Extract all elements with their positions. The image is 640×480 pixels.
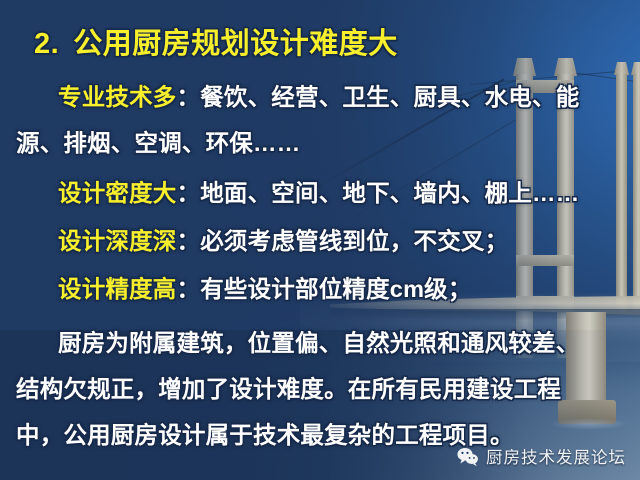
paragraph-line-5: 设计精度高：有些设计部位精度cm级； <box>58 266 472 312</box>
paragraph-body-2: 源、排烟、空调、环保…… <box>16 130 300 156</box>
paragraph-body-7: 结构欠规正，增加了设计难度。在所有民用建设工程 <box>16 376 561 402</box>
paragraph-label-design-density: 设计密度大 <box>58 180 177 206</box>
wechat-icon <box>456 445 479 468</box>
presentation-slide: 2.公用厨房规划设计难度大 专业技术多：餐饮、经营、卫生、厨具、水电、能 源、排… <box>0 0 640 480</box>
paragraph-body-5: ：有些设计部位精度cm级； <box>177 276 472 302</box>
paragraph-line-2: 源、排烟、空调、环保…… <box>16 120 300 166</box>
paragraph-label-design-depth: 设计深度深 <box>58 228 177 254</box>
page-title-text: 公用厨房规划设计难度大 <box>73 28 398 60</box>
page-title: 2.公用厨房规划设计难度大 <box>34 20 398 62</box>
paragraph-body-3: ：地面、空间、地下、墙内、棚上…… <box>177 180 580 206</box>
paragraph-line-1: 专业技术多：餐饮、经营、卫生、厨具、水电、能 <box>58 74 579 120</box>
paragraph-line-6: 厨房为附属建筑，位置偏、自然光照和通风较差、 <box>58 320 579 366</box>
paragraph-body-4: ：必须考虑管线到位，不交叉； <box>177 228 509 254</box>
paragraph-label-design-precision: 设计精度高 <box>58 276 177 302</box>
watermark-text: 厨房技术发展论坛 <box>486 444 626 468</box>
paragraph-line-4: 设计深度深：必须考虑管线到位，不交叉； <box>58 218 508 264</box>
paragraph-label-professional-tech: 专业技术多 <box>58 84 177 110</box>
slide-content: 2.公用厨房规划设计难度大 专业技术多：餐饮、经营、卫生、厨具、水电、能 源、排… <box>0 0 640 480</box>
watermark: 厨房技术发展论坛 <box>456 444 626 468</box>
paragraph-line-7: 结构欠规正，增加了设计难度。在所有民用建设工程 <box>16 366 561 412</box>
paragraph-line-3: 设计密度大：地面、空间、地下、墙内、棚上…… <box>58 170 579 216</box>
paragraph-body-6: 厨房为附属建筑，位置偏、自然光照和通风较差、 <box>58 330 579 356</box>
paragraph-body-1: ：餐饮、经营、卫生、厨具、水电、能 <box>177 84 580 110</box>
page-title-number: 2. <box>34 28 59 60</box>
paragraph-line-8: 中，公用厨房设计属于技术最复杂的工程项目。 <box>16 412 514 458</box>
paragraph-body-8: 中，公用厨房设计属于技术最复杂的工程项目。 <box>16 422 514 448</box>
